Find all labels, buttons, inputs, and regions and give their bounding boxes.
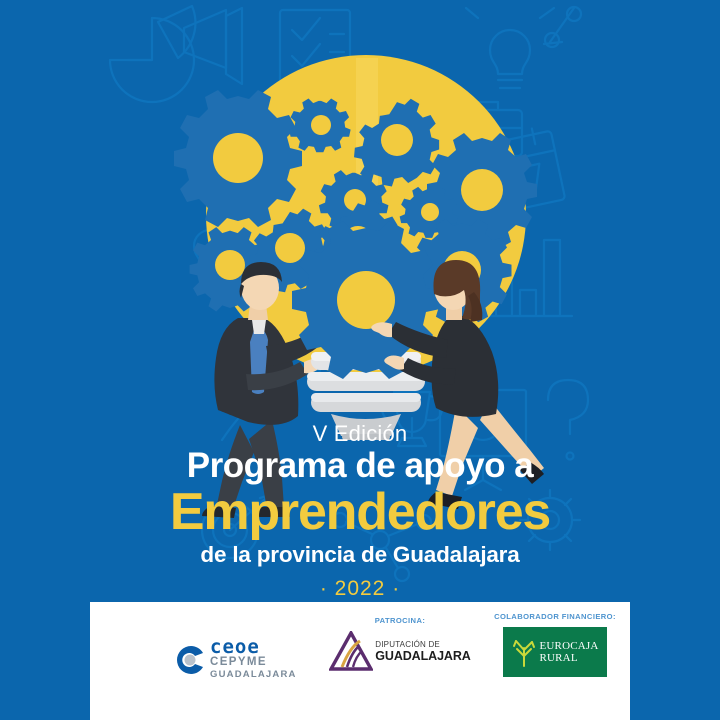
title-line-3: de la provincia de Guadalajara xyxy=(90,542,630,568)
logo-eurocaja-rural: COLABORADOR FINANCIERO: xyxy=(485,612,625,677)
year-label: · 2022 · xyxy=(90,576,630,601)
title-line-1-tail: a xyxy=(505,446,533,485)
eurocaja-sheaf-icon xyxy=(511,636,537,668)
sponsor-footer: ceoe CEPYME GUADALAJARA PATROCINA: xyxy=(90,602,630,720)
logo-ceoe-cepyme-guadalajara: ceoe CEPYME GUADALAJARA xyxy=(175,638,315,681)
colaborador-financiero-label: COLABORADOR FINANCIERO: xyxy=(485,612,625,621)
diputacion-line-2: GUADALAJARA xyxy=(375,649,470,663)
diputacion-triangle-icon xyxy=(329,631,373,671)
cepyme-label: CEPYME xyxy=(210,656,297,669)
title-line-1: Programa de apoyo a xyxy=(90,448,630,485)
diputacion-line-1: DIPUTACIÓN DE xyxy=(375,640,470,649)
poster-root: V Edición Programa de apoyo a Emprendedo… xyxy=(0,0,720,720)
eurocaja-line-2: RURAL xyxy=(539,652,598,664)
title-line-1-bold: apoyo xyxy=(404,446,505,485)
edition-label: V Edición xyxy=(90,422,630,446)
headline-block: V Edición Programa de apoyo a Emprendedo… xyxy=(90,422,630,601)
title-line-2: Emprendedores xyxy=(90,486,630,538)
ceoe-wordmark: ceoe xyxy=(210,638,297,656)
ceoe-guadalajara-label: GUADALAJARA xyxy=(210,669,297,681)
ceoe-c-mark-icon xyxy=(175,644,207,676)
patrocina-label: PATROCINA: xyxy=(325,616,475,625)
eurocaja-line-1: EUROCAJA xyxy=(539,640,598,652)
title-line-1-light: Programa de xyxy=(187,446,405,485)
logo-diputacion-guadalajara: PATROCINA: DIPUTACIÓN DE GUADALAJARA xyxy=(325,616,475,671)
